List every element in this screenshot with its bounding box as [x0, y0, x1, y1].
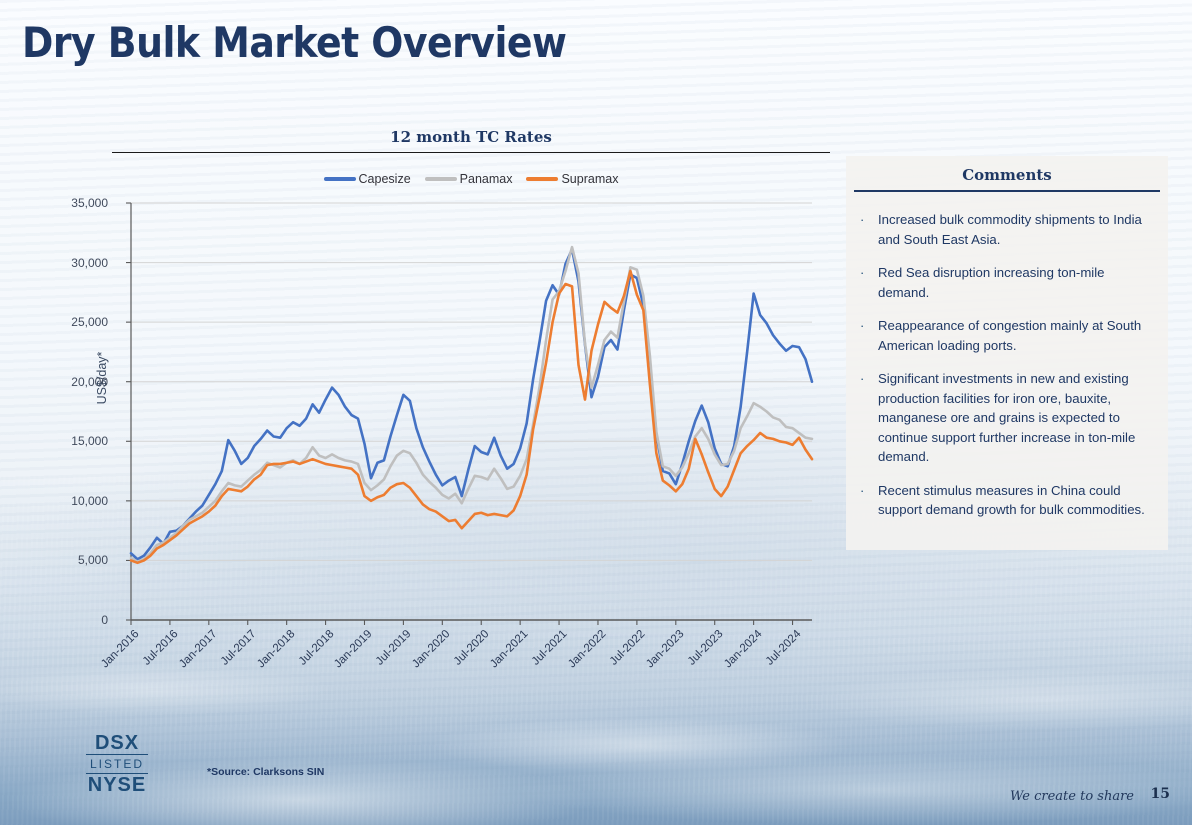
source-note: *Source: Clarksons SIN — [207, 766, 324, 778]
y-axis-tick: 0 — [38, 613, 108, 627]
y-axis-tick: 20,000 — [38, 375, 108, 389]
comments-panel: Comments ·Increased bulk commodity shipm… — [846, 156, 1168, 550]
comment-text: Red Sea disruption increasing ton-mile d… — [878, 263, 1152, 302]
logo-nyse-text: NYSE — [86, 774, 148, 797]
legend-swatch-panamax — [425, 177, 457, 181]
chart-legend: Capesize Panamax Supramax — [112, 171, 830, 187]
comment-text: Reappearance of congestion mainly at Sou… — [878, 316, 1152, 355]
page-number: 15 — [1151, 786, 1170, 802]
comments-header-divider — [854, 190, 1160, 192]
bullet-icon: · — [860, 316, 866, 355]
comment-text: Increased bulk commodity shipments to In… — [878, 210, 1152, 249]
bullet-icon: · — [860, 481, 866, 520]
chart-title-divider — [112, 152, 830, 153]
comment-text: Significant investments in new and exist… — [878, 369, 1152, 467]
chart-svg — [112, 195, 830, 665]
legend-label-capesize: Capesize — [359, 172, 411, 186]
comment-item: ·Recent stimulus measures in China could… — [846, 481, 1168, 520]
legend-label-supramax: Supramax — [561, 172, 618, 186]
comment-item: ·Red Sea disruption increasing ton-mile … — [846, 263, 1168, 302]
logo-dsx-text: DSX — [86, 733, 148, 754]
logo-listed-text: LISTED — [86, 754, 148, 774]
legend-swatch-supramax — [526, 177, 558, 181]
y-axis-tick: 5,000 — [38, 553, 108, 567]
comment-item: ·Increased bulk commodity shipments to I… — [846, 210, 1168, 249]
comments-header: Comments — [846, 166, 1168, 190]
bullet-icon: · — [860, 369, 866, 467]
comment-item: ·Reappearance of congestion mainly at So… — [846, 316, 1168, 355]
chart-container: 12 month TC Rates Capesize Panamax Supra… — [112, 128, 830, 688]
legend-item-panamax[interactable]: Panamax — [425, 172, 513, 186]
y-axis-tick: 30,000 — [38, 256, 108, 270]
page-title: Dry Bulk Market Overview — [22, 18, 566, 67]
legend-label-panamax: Panamax — [460, 172, 513, 186]
plot-area: US$/day* 05,00010,00015,00020,00025,0003… — [112, 195, 830, 665]
footer-tagline: We create to share — [1010, 789, 1134, 804]
bullet-icon: · — [860, 210, 866, 249]
dsx-nyse-logo: DSX LISTED NYSE — [86, 733, 148, 797]
comment-item: ·Significant investments in new and exis… — [846, 369, 1168, 467]
comment-text: Recent stimulus measures in China could … — [878, 481, 1152, 520]
bullet-icon: · — [860, 263, 866, 302]
y-axis-tick: 35,000 — [38, 196, 108, 210]
y-axis-tick: 15,000 — [38, 434, 108, 448]
chart-title: 12 month TC Rates — [112, 128, 830, 152]
y-axis-tick: 25,000 — [38, 315, 108, 329]
legend-item-supramax[interactable]: Supramax — [526, 172, 618, 186]
comments-list: ·Increased bulk commodity shipments to I… — [846, 210, 1168, 520]
legend-item-capesize[interactable]: Capesize — [324, 172, 411, 186]
y-axis-tick: 10,000 — [38, 494, 108, 508]
legend-swatch-capesize — [324, 177, 356, 181]
